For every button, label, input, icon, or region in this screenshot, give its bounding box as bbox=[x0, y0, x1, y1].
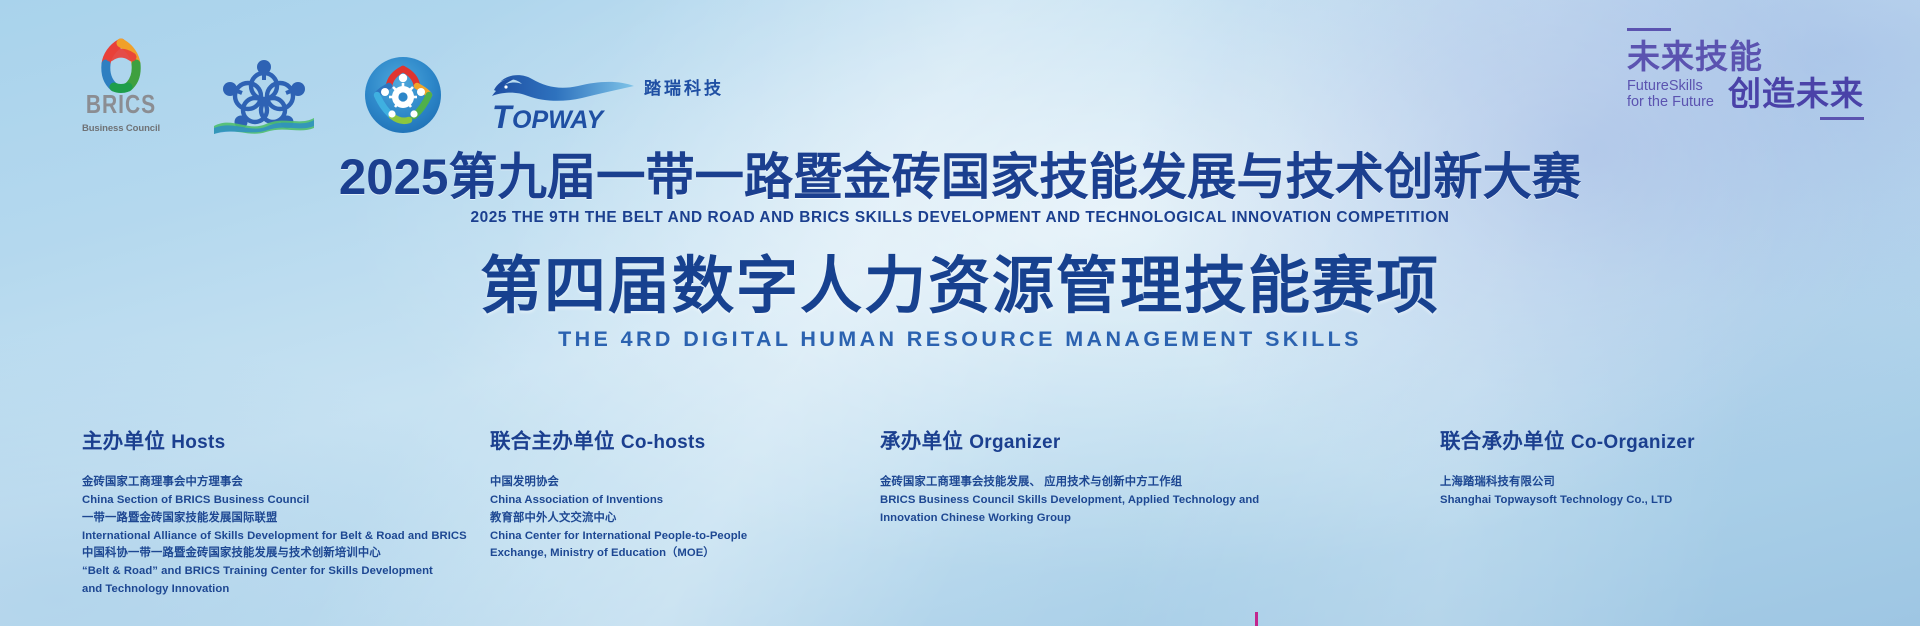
list-item: 中国发明协会 bbox=[490, 474, 880, 492]
organizer-list-coorganizer: 上海踏瑞科技有限公司 Shanghai Topwaysoft Technolog… bbox=[1440, 474, 1840, 510]
column-heading-cohosts: 联合主办单位 Co-hosts bbox=[490, 424, 880, 454]
sponsor-logo-row: BRICS Business Council bbox=[78, 36, 638, 134]
banner-titles: 2025第九届一带一路暨金砖国家技能发展与技术创新大赛 2025 THE 9TH… bbox=[0, 152, 1920, 352]
brics-wordmark: BRICS bbox=[78, 92, 164, 118]
list-item: 金砖国家工商理事会技能发展、 应用技术与创新中方工作组 bbox=[880, 474, 1440, 492]
list-item: 一带一路暨金砖国家技能发展国际联盟 bbox=[82, 510, 490, 528]
list-item: “Belt & Road” and BRICS Training Center … bbox=[82, 563, 490, 581]
topway-chinese-name: 踏瑞科技 bbox=[644, 74, 724, 99]
column-heading-cn: 主办单位 bbox=[82, 430, 165, 453]
main-title-en: 2025 THE 9TH THE BELT AND ROAD AND BRICS… bbox=[5, 209, 1915, 227]
future-skills-slogan: 未来技能 FutureSkills for the Future 创造未来 bbox=[1627, 28, 1864, 120]
slogan-en: FutureSkills for the Future bbox=[1627, 78, 1714, 110]
list-item: 中国科协一带一路暨金砖国家技能发展与技术创新培训中心 bbox=[82, 545, 490, 563]
list-item: Exchange, Ministry of Education（MOE） bbox=[490, 545, 880, 563]
slogan-cn-line2: 创造未来 bbox=[1728, 77, 1864, 110]
topway-dragon-wordmark-icon: T OPWAY bbox=[486, 68, 638, 134]
organizer-column-coorganizer: 联合承办单位 Co-Organizer 上海踏瑞科技有限公司 Shanghai … bbox=[1440, 424, 1840, 599]
column-heading-cn: 联合承办单位 bbox=[1440, 430, 1565, 453]
svg-text:OPWAY: OPWAY bbox=[512, 106, 606, 134]
belt-road-brics-alliance-logo bbox=[208, 56, 320, 134]
star-gear-emblem-icon bbox=[364, 56, 442, 134]
slogan-top-rule bbox=[1627, 28, 1671, 31]
column-heading-hosts: 主办单位 Hosts bbox=[82, 424, 490, 454]
column-heading-cn: 承办单位 bbox=[880, 430, 963, 453]
list-item: BRICS Business Council Skills Developmen… bbox=[880, 492, 1440, 510]
list-item: 教育部中外人文交流中心 bbox=[490, 510, 880, 528]
list-item: China Section of BRICS Business Council bbox=[82, 492, 490, 510]
column-heading-organizer: 承办单位 Organizer bbox=[880, 424, 1440, 454]
column-heading-coorganizer: 联合承办单位 Co-Organizer bbox=[1440, 424, 1840, 454]
conference-banner: BRICS Business Council bbox=[0, 0, 1920, 626]
column-heading-en: Co-hosts bbox=[621, 432, 706, 453]
column-heading-en: Hosts bbox=[171, 432, 225, 453]
svg-text:T: T bbox=[492, 99, 514, 134]
slogan-en-line1: FutureSkills bbox=[1627, 78, 1714, 94]
topway-logo: T OPWAY 踏瑞科技 bbox=[486, 60, 638, 134]
bottom-edge-marker bbox=[1255, 612, 1258, 626]
organizer-column-organizer: 承办单位 Organizer 金砖国家工商理事会技能发展、 应用技术与创新中方工… bbox=[880, 424, 1440, 599]
list-item: China Association of Inventions bbox=[490, 492, 880, 510]
organizer-column-hosts: 主办单位 Hosts 金砖国家工商理事会中方理事会 China Section … bbox=[0, 424, 490, 599]
skills-star-emblem-logo bbox=[364, 56, 442, 134]
column-heading-en: Organizer bbox=[969, 432, 1060, 453]
alliance-interlocking-icon bbox=[208, 56, 320, 134]
slogan-cn-line1: 未来技能 bbox=[1627, 40, 1864, 73]
main-title-cn: 2025第九届一带一路暨金砖国家技能发展与技术创新大赛 bbox=[14, 152, 1905, 203]
organizer-columns: 主办单位 Hosts 金砖国家工商理事会中方理事会 China Section … bbox=[0, 424, 1920, 599]
sub-title-en: THE 4RD DIGITAL HUMAN RESOURCE MANAGEMEN… bbox=[0, 327, 1920, 352]
organizer-list-cohosts: 中国发明协会 China Association of Inventions 教… bbox=[490, 474, 880, 563]
list-item: Shanghai Topwaysoft Technology Co., LTD bbox=[1440, 492, 1840, 510]
brics-subtitle: Business Council bbox=[78, 123, 164, 134]
list-item: and Technology Innovation bbox=[82, 581, 490, 599]
sub-title-cn: 第四届数字人力资源管理技能赛项 bbox=[0, 255, 1920, 319]
column-heading-cn: 联合主办单位 bbox=[490, 430, 615, 453]
list-item: Innovation Chinese Working Group bbox=[880, 510, 1440, 528]
brics-business-council-logo: BRICS Business Council bbox=[78, 36, 164, 134]
brics-star-icon bbox=[90, 36, 152, 94]
organizer-list-hosts: 金砖国家工商理事会中方理事会 China Section of BRICS Bu… bbox=[82, 474, 490, 599]
organizer-list-organizer: 金砖国家工商理事会技能发展、 应用技术与创新中方工作组 BRICS Busine… bbox=[880, 474, 1440, 528]
slogan-en-line2: for the Future bbox=[1627, 94, 1714, 110]
list-item: International Alliance of Skills Develop… bbox=[82, 528, 490, 546]
list-item: 金砖国家工商理事会中方理事会 bbox=[82, 474, 490, 492]
list-item: 上海踏瑞科技有限公司 bbox=[1440, 474, 1840, 492]
list-item: China Center for International People-to… bbox=[490, 528, 880, 546]
column-heading-en: Co-Organizer bbox=[1571, 432, 1695, 453]
organizer-column-cohosts: 联合主办单位 Co-hosts 中国发明协会 China Association… bbox=[490, 424, 880, 599]
slogan-bottom-rule bbox=[1820, 117, 1864, 120]
